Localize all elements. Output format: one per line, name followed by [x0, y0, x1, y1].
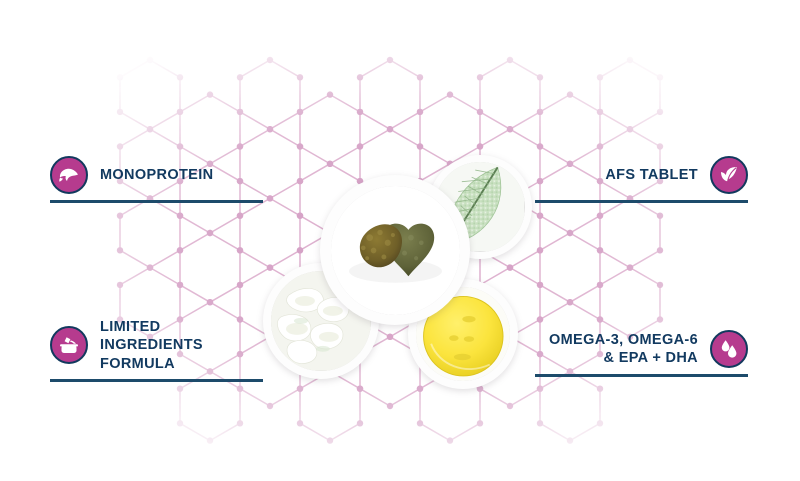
feature-label: AFS TABLET [605, 166, 698, 184]
feature-omega-fatty-acids[interactable]: OMEGA-3, OMEGA-6 & EPA + DHA [535, 330, 748, 377]
kibble-photo [331, 186, 460, 315]
feature-underline [535, 374, 748, 377]
feature-underline [535, 200, 748, 203]
kibble-photo-bubble [320, 175, 470, 325]
feature-afs-tablet[interactable]: AFS TABLET [535, 156, 748, 203]
infographic-canvas: MONOPROTEIN LIMITED INGREDIENTS FORMULA … [0, 0, 800, 481]
feature-monoprotein[interactable]: MONOPROTEIN [50, 156, 263, 203]
product-photo-cluster [258, 155, 558, 400]
droplets-icon [710, 330, 748, 368]
feature-underline [50, 200, 263, 203]
bowl-icon [50, 326, 88, 364]
feature-label: OMEGA-3, OMEGA-6 & EPA + DHA [549, 331, 698, 368]
feature-limited-ingredients-formula[interactable]: LIMITED INGREDIENTS FORMULA [50, 318, 263, 382]
fish-icon [50, 156, 88, 194]
feature-label: MONOPROTEIN [100, 166, 213, 184]
feature-label: LIMITED INGREDIENTS FORMULA [100, 318, 203, 373]
feature-underline [50, 379, 263, 382]
leaf-sprout-icon [710, 156, 748, 194]
